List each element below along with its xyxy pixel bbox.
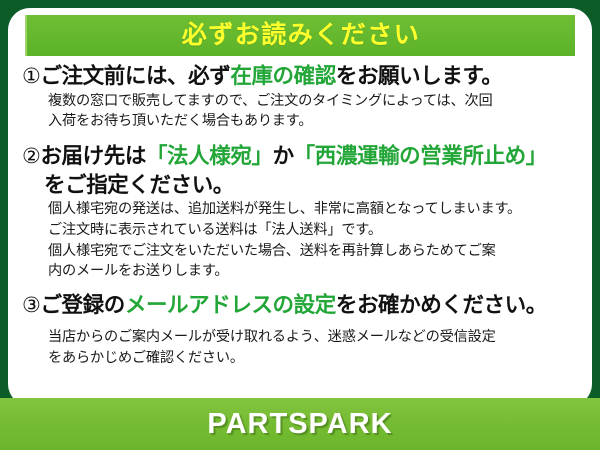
item-2-sub-line-1: 個人様宅宛の発送は、追加送料が発生し、非常に高額となってしまいます。 bbox=[22, 199, 582, 220]
item-2-sub-line-4: 内のメールをお送りします。 bbox=[22, 261, 582, 282]
item-2-heading: ②お届け先は「法人様宛」か「西濃運輸の営業所止め」 をご指定ください。 bbox=[22, 142, 582, 199]
item-3-sub-line-2: をあらかじめご確認ください。 bbox=[22, 348, 582, 369]
item-2-heading-part-3: か bbox=[273, 144, 294, 168]
item-1-heading: ①ご注文前には、必ず在庫の確認をお願いします。 bbox=[22, 62, 582, 91]
notice-card: 必ずお読みください ①ご注文前には、必ず在庫の確認をお願いします。 複数の窓口で… bbox=[0, 0, 600, 450]
item-3-number: ③ bbox=[22, 294, 40, 317]
notice-title-bar: 必ずお読みください bbox=[25, 15, 575, 56]
item-3-heading-highlight: メールアドレスの設定 bbox=[125, 293, 336, 317]
item-3-heading-part-1: ご登録の bbox=[40, 293, 124, 317]
item-1-number: ① bbox=[22, 65, 40, 88]
notice-item-1: ①ご注文前には、必ず在庫の確認をお願いします。 複数の窓口で販売してますので、ご… bbox=[22, 62, 582, 132]
item-2-sub-line-2: ご注文時に表示されている送料は「法人送料」です。 bbox=[22, 220, 582, 241]
item-2-heading-highlight-2: 「西濃運輸の営業所止め」 bbox=[294, 144, 547, 168]
item-2-heading-line-2: をご指定ください。 bbox=[22, 171, 582, 199]
notice-item-3: ③ご登録のメールアドレスの設定をお確かめください。 当店からのご案内メールが受け… bbox=[22, 291, 582, 368]
item-2-heading-highlight-1: 「法人様宛」 bbox=[146, 144, 273, 168]
item-2-heading-part-1: お届け先は bbox=[40, 144, 146, 168]
notice-item-2: ②お届け先は「法人様宛」か「西濃運輸の営業所止め」 をご指定ください。 個人様宅… bbox=[22, 142, 582, 282]
item-1-heading-highlight: 在庫の確認 bbox=[230, 64, 336, 88]
item-1-sub-line-1: 複数の窓口で販売してますので、ご注文のタイミングによっては、次回 bbox=[22, 91, 582, 112]
brand-logo: PARTSPARK bbox=[207, 410, 392, 439]
item-1-sub-line-2: 入荷をお待ち頂いただく場合もあります。 bbox=[22, 111, 582, 132]
page-title: 必ずお読みください bbox=[182, 23, 421, 48]
item-2-sub-line-3: 個人様宅宛でご注文をいただいた場合、送料を再計算しあらためてご案 bbox=[22, 241, 582, 262]
notice-body: ①ご注文前には、必ず在庫の確認をお願いします。 複数の窓口で販売してますので、ご… bbox=[8, 62, 592, 406]
notice-panel: 必ずお読みください ①ご注文前には、必ず在庫の確認をお願いします。 複数の窓口で… bbox=[8, 8, 592, 406]
item-3-sub-line-1: 当店からのご案内メールが受け取れるよう、迷惑メールなどの受信設定 bbox=[22, 327, 582, 348]
item-3-heading-part-3: をお確かめください。 bbox=[336, 293, 547, 317]
item-2-number: ② bbox=[22, 145, 40, 168]
item-1-heading-part-3: をお願いします。 bbox=[336, 64, 503, 88]
item-3-heading: ③ご登録のメールアドレスの設定をお確かめください。 bbox=[22, 291, 582, 320]
footer-bar: PARTSPARK bbox=[0, 398, 600, 450]
item-1-heading-part-1: ご注文前には、必ず bbox=[40, 64, 230, 88]
